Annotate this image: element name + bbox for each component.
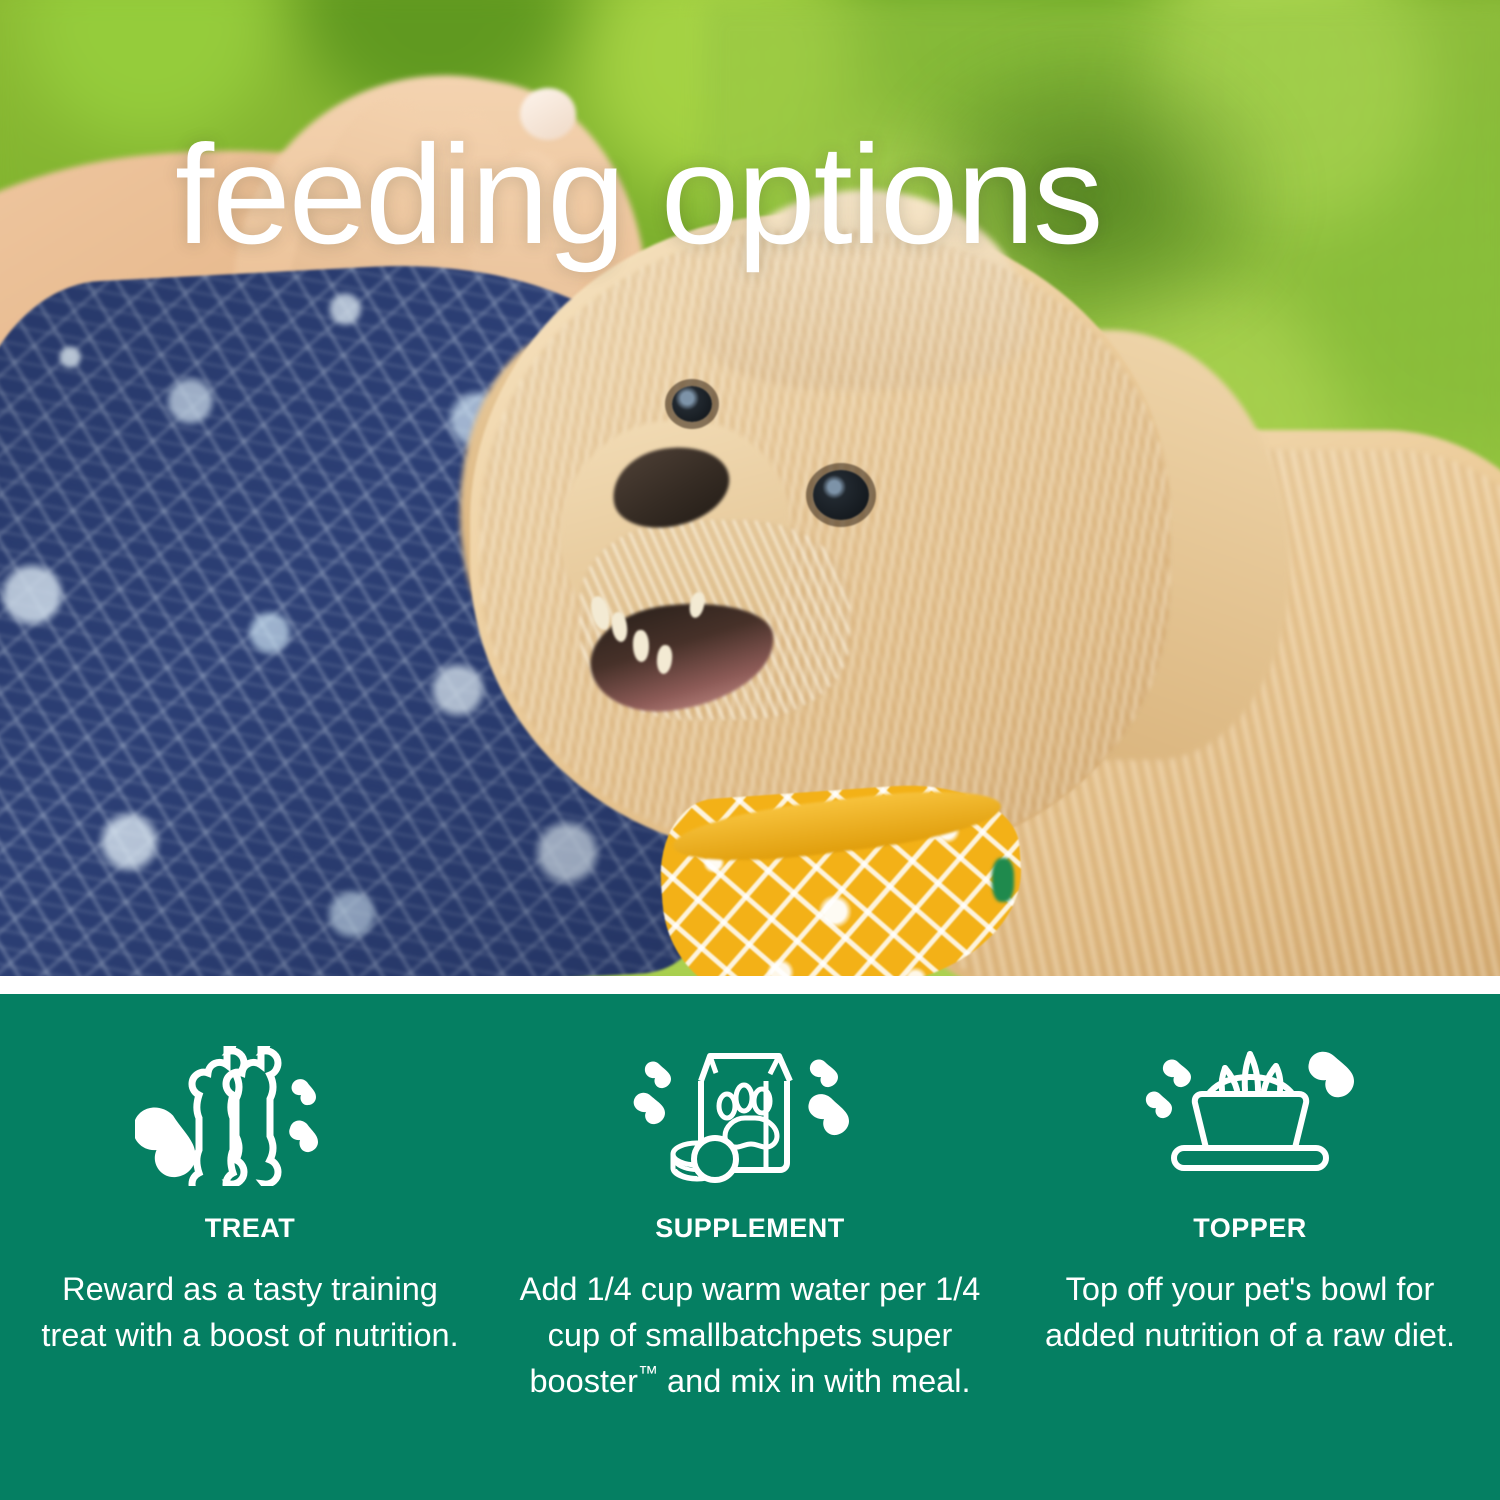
food-bag-with-paw-print-and-hearts-icon (625, 1046, 875, 1186)
pet-bowl-with-food-and-hearts-icon (1130, 1046, 1370, 1186)
hero-photo: feeding options (0, 0, 1500, 976)
dog-eye-left (672, 386, 712, 422)
feeding-option-card-treat: TREAT Reward as a tasty training treat w… (0, 1046, 500, 1500)
card-title-topper: TOPPER (1193, 1213, 1307, 1244)
trademark-symbol: ™ (638, 1363, 658, 1385)
card-title-supplement: SUPPLEMENT (655, 1213, 845, 1244)
bandana-green-tag (992, 858, 1014, 902)
card-description-supplement: Add 1/4 cup warm water per 1/4 cup of sm… (510, 1266, 990, 1404)
card-description-treat: Reward as a tasty training treat with a … (35, 1266, 465, 1358)
card-title-treat: TREAT (205, 1213, 296, 1244)
page-title: feeding options (175, 124, 1101, 265)
card-description-topper: Top off your pet's bowl for added nutrit… (1025, 1266, 1475, 1358)
supplement-desc-post: and mix in with meal. (658, 1363, 970, 1399)
feeding-options-infographic: feeding options TREAT Reward as a tasty … (0, 0, 1500, 1500)
dog-eye-right (813, 470, 869, 520)
dog-bone-with-hearts-icon (135, 1046, 365, 1186)
feeding-option-card-supplement: SUPPLEMENT Add 1/4 cup warm water per 1/… (500, 1046, 1000, 1500)
feeding-options-columns: TREAT Reward as a tasty training treat w… (0, 994, 1500, 1500)
photo-panel-divider (0, 976, 1500, 994)
feeding-options-panel: TREAT Reward as a tasty training treat w… (0, 994, 1500, 1500)
feeding-option-card-topper: TOPPER Top off your pet's bowl for added… (1000, 1046, 1500, 1500)
